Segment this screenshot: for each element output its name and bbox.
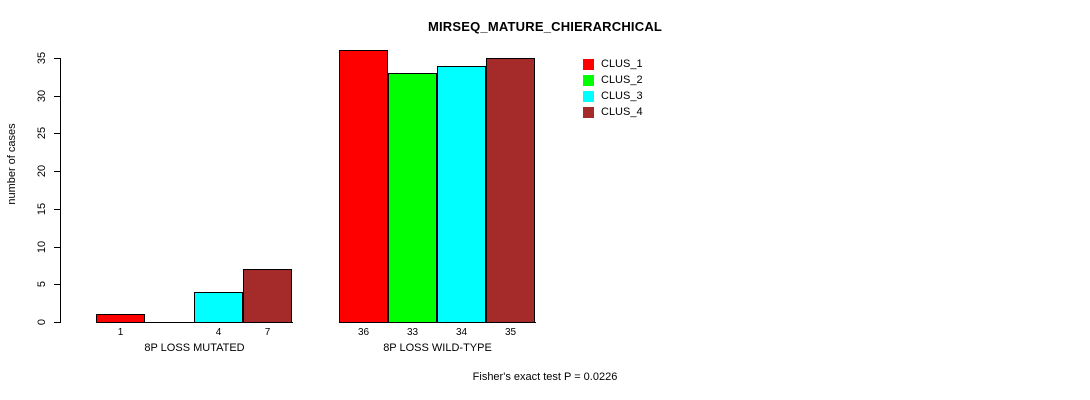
legend-color-swatch bbox=[583, 75, 594, 86]
legend-item[interactable]: CLUS_1 bbox=[583, 57, 713, 73]
legend-color-swatch bbox=[583, 59, 594, 70]
bar-value-label: 35 bbox=[486, 328, 535, 338]
legend-item[interactable]: CLUS_4 bbox=[583, 105, 713, 121]
legend: CLUS_1CLUS_2CLUS_3CLUS_4 bbox=[583, 57, 713, 121]
group-baseline-1 bbox=[96, 322, 293, 323]
statistical-test-annotation: Fisher's exact test P = 0.0226 bbox=[0, 371, 1090, 383]
bar-value-label: 33 bbox=[388, 328, 437, 338]
bar-chart-figure: MIRSEQ_MATURE_CHIERARCHICAL number of ca… bbox=[0, 0, 1090, 400]
legend-item-label: CLUS_2 bbox=[601, 73, 643, 88]
legend-item[interactable]: CLUS_3 bbox=[583, 89, 713, 105]
legend-item[interactable]: CLUS_2 bbox=[583, 73, 713, 89]
bar-value-label: 4 bbox=[194, 328, 243, 338]
legend-item-label: CLUS_3 bbox=[601, 89, 643, 104]
bar-value-label: 1 bbox=[96, 328, 145, 338]
legend-item-label: CLUS_4 bbox=[601, 105, 643, 120]
group-label-mutated: 8P LOSS MUTATED bbox=[96, 342, 293, 354]
legend-color-swatch bbox=[583, 91, 594, 102]
bar-value-label: 34 bbox=[437, 328, 486, 338]
bar-value-labels: 14736333435 bbox=[0, 0, 1090, 400]
bar-value-label: 36 bbox=[339, 328, 388, 338]
legend-item-label: CLUS_1 bbox=[601, 57, 643, 72]
group-label-wild-type: 8P LOSS WILD-TYPE bbox=[339, 342, 536, 354]
group-baseline-2 bbox=[339, 322, 536, 323]
statistical-test-text: Fisher's exact test P = 0.0226 bbox=[473, 371, 618, 383]
bar-value-label: 7 bbox=[243, 328, 292, 338]
legend-color-swatch bbox=[583, 107, 594, 118]
